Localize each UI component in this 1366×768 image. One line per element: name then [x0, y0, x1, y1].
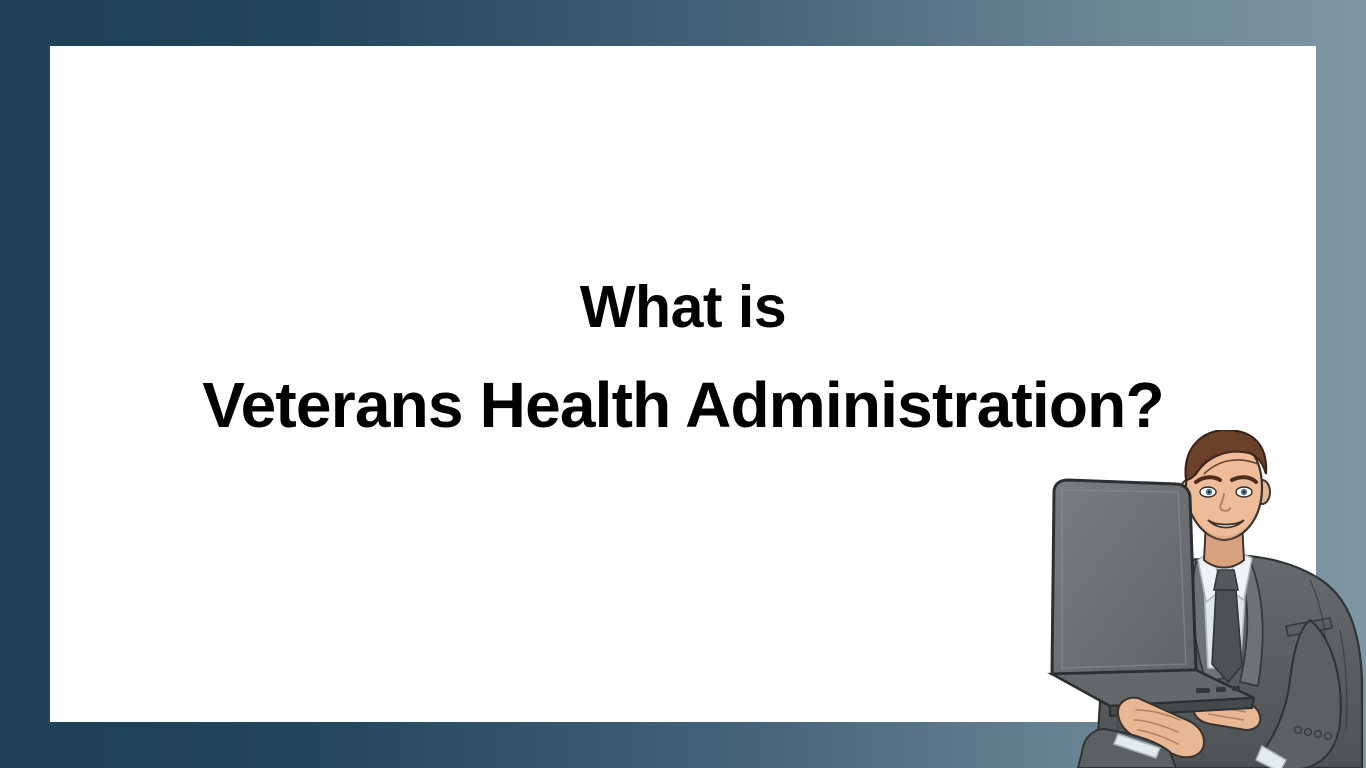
page-title-line-2: Veterans Health Administration?: [50, 373, 1316, 437]
content-panel: What is Veterans Health Administration?: [50, 46, 1316, 722]
page-title-line-1: What is: [50, 278, 1316, 337]
slide-canvas: What is Veterans Health Administration?: [0, 0, 1366, 768]
